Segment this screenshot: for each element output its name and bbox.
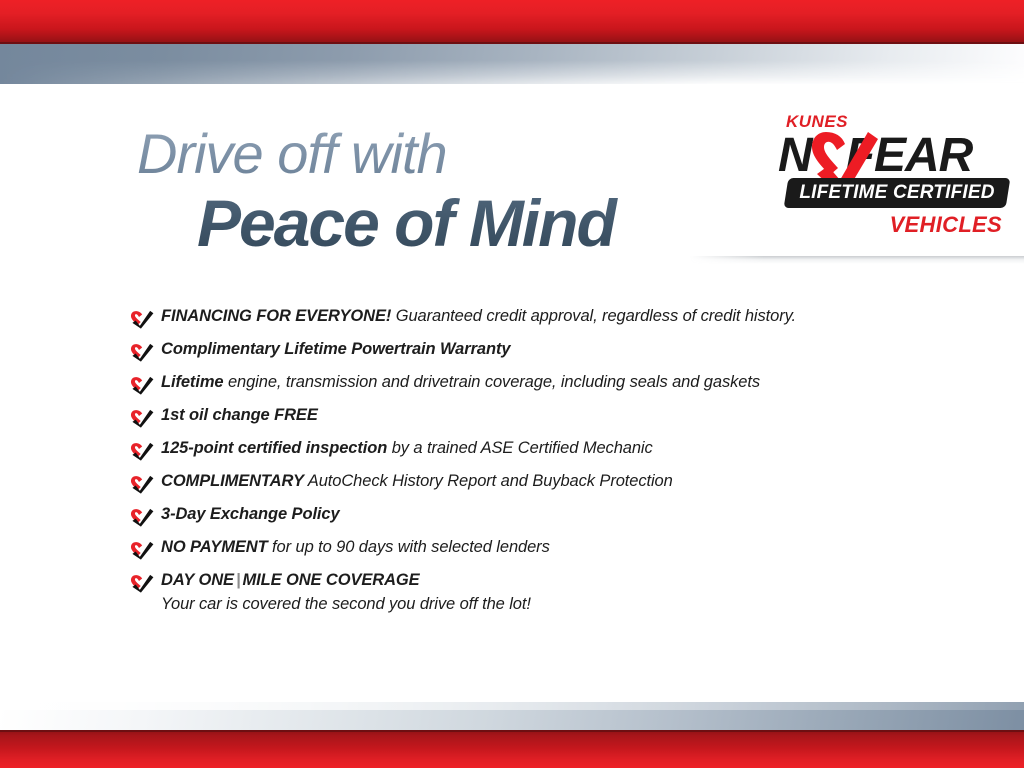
list-item-bold: 1st oil change FREE: [161, 406, 318, 424]
red-heart-check-icon: [130, 310, 154, 329]
red-heart-check-icon: [130, 442, 154, 461]
red-heart-check-icon: [130, 508, 154, 527]
list-item: DAY ONE|MILE ONE COVERAGE Your car is co…: [130, 570, 1000, 615]
list-item: Lifetime engine, transmission and drivet…: [130, 372, 1000, 395]
headline-line-1: Drive off with: [137, 126, 737, 182]
list-item-normal: AutoCheck History Report and Buyback Pro…: [304, 472, 673, 490]
list-item-stack: DAY ONE|MILE ONE COVERAGE Your car is co…: [161, 570, 531, 615]
header-divider-shadow: [690, 256, 1024, 264]
red-heart-check-icon: [130, 541, 154, 560]
list-item: FINANCING FOR EVERYONE! Guaranteed credi…: [130, 306, 1000, 329]
list-item-bold: DAY ONE: [161, 571, 234, 589]
list-item-text: 1st oil change FREE: [161, 405, 318, 426]
list-item: Complimentary Lifetime Powertrain Warran…: [130, 339, 1000, 362]
list-item-normal: engine, transmission and drivetrain cove…: [223, 373, 760, 391]
list-item-normal: Guaranteed credit approval, regardless o…: [391, 307, 796, 325]
list-item-bold: Complimentary Lifetime Powertrain Warran…: [161, 340, 510, 358]
bottom-red-band: [0, 730, 1024, 768]
logo-bar-label: LIFETIME CERTIFIED: [790, 182, 1004, 204]
list-item-separator: |: [234, 571, 243, 589]
list-item-normal: by a trained ASE Certified Mechanic: [387, 439, 652, 457]
red-heart-check-icon: [130, 343, 154, 362]
top-red-band: [0, 0, 1024, 44]
list-item-text: FINANCING FOR EVERYONE! Guaranteed credi…: [161, 306, 796, 327]
promo-banner-page: Drive off with Peace of Mind KUNES NFEAR…: [0, 0, 1024, 768]
top-decorative-bands: [0, 0, 1024, 84]
red-heart-check-icon: [130, 409, 154, 428]
list-item-text: NO PAYMENT for up to 90 days with select…: [161, 537, 550, 558]
list-item-text: DAY ONE|MILE ONE COVERAGE: [161, 570, 531, 591]
list-item: 125-point certified inspection by a trai…: [130, 438, 1000, 461]
list-item-bold: FINANCING FOR EVERYONE!: [161, 307, 391, 325]
red-heart-check-icon: [130, 475, 154, 494]
list-item-normal: for up to 90 days with selected lenders: [268, 538, 550, 556]
list-item: 1st oil change FREE: [130, 405, 1000, 428]
headline-line-2: Peace of Mind: [197, 190, 737, 256]
list-item-text: Complimentary Lifetime Powertrain Warran…: [161, 339, 510, 360]
top-silver-band-fade: [0, 44, 1024, 84]
list-item-bold-2: MILE ONE COVERAGE: [243, 571, 420, 589]
red-heart-check-icon: [130, 376, 154, 395]
list-item-subtext: Your car is covered the second you drive…: [161, 594, 531, 615]
list-item-bold: 125-point certified inspection: [161, 439, 387, 457]
bottom-decorative-bands: [0, 688, 1024, 768]
benefits-list: FINANCING FOR EVERYONE! Guaranteed credi…: [130, 306, 1000, 625]
list-item-text: 3-Day Exchange Policy: [161, 504, 340, 525]
list-item-text: Lifetime engine, transmission and drivet…: [161, 372, 760, 393]
list-item-text: 125-point certified inspection by a trai…: [161, 438, 653, 459]
list-item: COMPLIMENTARY AutoCheck History Report a…: [130, 471, 1000, 494]
list-item-bold: Lifetime: [161, 373, 223, 391]
list-item-bold: 3-Day Exchange Policy: [161, 505, 340, 523]
list-item: NO PAYMENT for up to 90 days with select…: [130, 537, 1000, 560]
bottom-silver-band-highlight: [0, 702, 1024, 710]
headline-block: Drive off with Peace of Mind: [137, 126, 737, 256]
logo-suffix-vehicles: VEHICLES: [890, 212, 1002, 238]
list-item-text: COMPLIMENTARY AutoCheck History Report a…: [161, 471, 673, 492]
logo-letter-n: N: [778, 129, 812, 182]
list-item: 3-Day Exchange Policy: [130, 504, 1000, 527]
kunes-no-fear-logo: KUNES NFEAR LIFETIME CERTIFIED VEHICLES: [778, 112, 1010, 252]
red-heart-check-icon: [130, 574, 154, 593]
list-item-bold: COMPLIMENTARY: [161, 472, 304, 490]
list-item-bold: NO PAYMENT: [161, 538, 268, 556]
